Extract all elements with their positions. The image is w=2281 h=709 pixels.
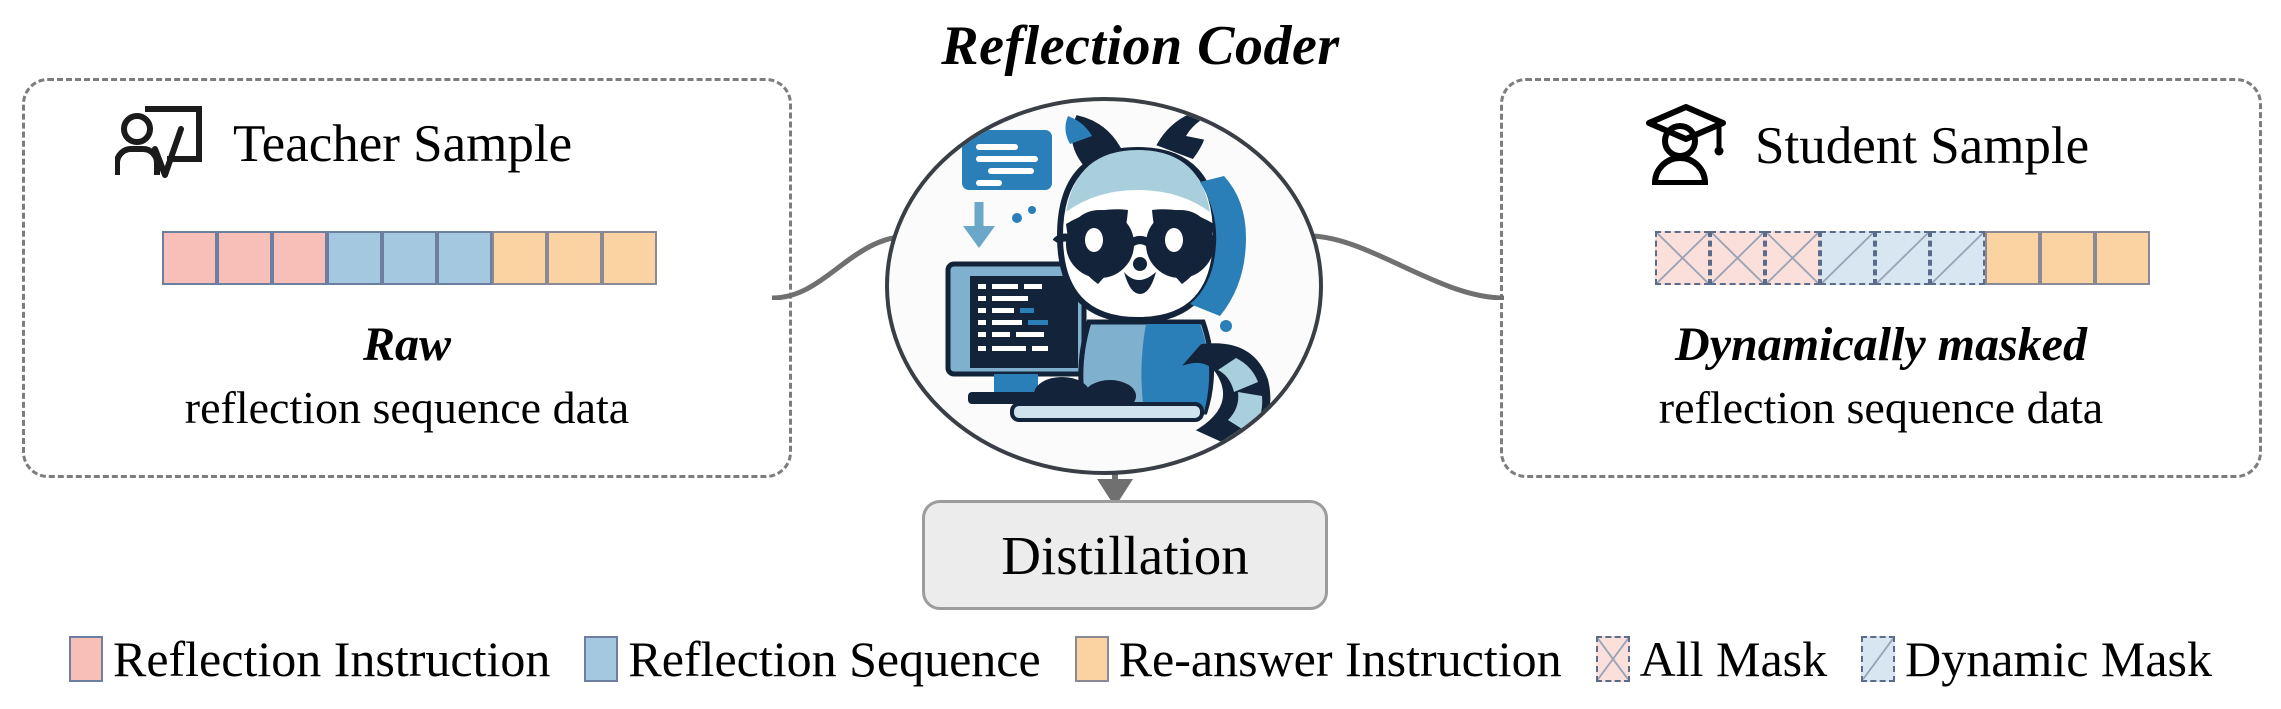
token-cell-reflection-sequence xyxy=(1875,231,1930,285)
token-cell-reflection-instruction xyxy=(1710,231,1765,285)
student-token-sequence xyxy=(1655,231,2150,285)
legend-label: Reflection Sequence xyxy=(628,630,1040,688)
legend-label: Re-answer Instruction xyxy=(1119,630,1562,688)
teacher-sample-panel: Teacher Sample Raw reflection sequence d… xyxy=(22,78,792,478)
token-cell-reflection-instruction xyxy=(217,231,272,285)
legend-label: Dynamic Mask xyxy=(1905,630,2212,688)
token-cell-reflection-sequence xyxy=(437,231,492,285)
token-cell-reflection-instruction xyxy=(272,231,327,285)
teacher-caption-bold: Raw xyxy=(25,317,789,372)
teacher-caption-sub: reflection sequence data xyxy=(25,381,789,434)
connector-right xyxy=(1310,230,1506,300)
legend-item: All Mask xyxy=(1596,630,1828,688)
teacher-presentation-icon xyxy=(115,103,207,186)
token-cell-re-answer-instruction xyxy=(1985,231,2040,285)
student-sample-header: Student Sample xyxy=(1643,103,2089,190)
legend-swatch xyxy=(1075,636,1109,682)
teacher-sample-title: Teacher Sample xyxy=(233,118,572,171)
token-cell-re-answer-instruction xyxy=(2040,231,2095,285)
token-cell-reflection-sequence xyxy=(382,231,437,285)
legend-swatch xyxy=(1596,636,1630,682)
legend-item: Reflection Sequence xyxy=(584,630,1040,688)
token-cell-re-answer-instruction xyxy=(492,231,547,285)
teacher-token-sequence xyxy=(162,231,657,285)
legend-swatch xyxy=(584,636,618,682)
legend-label: Reflection Instruction xyxy=(113,630,550,688)
token-cell-reflection-sequence xyxy=(1930,231,1985,285)
token-cell-re-answer-instruction xyxy=(547,231,602,285)
token-cell-re-answer-instruction xyxy=(602,231,657,285)
student-caption-sub: reflection sequence data xyxy=(1503,381,2259,434)
student-sample-panel: Student Sample Dynamically masked reflec… xyxy=(1500,78,2262,478)
token-cell-reflection-instruction xyxy=(1655,231,1710,285)
graduate-student-icon xyxy=(1643,103,1729,190)
legend-label: All Mask xyxy=(1640,630,1828,688)
legend-swatch xyxy=(1861,636,1895,682)
legend-item: Re-answer Instruction xyxy=(1075,630,1562,688)
teacher-sample-header: Teacher Sample xyxy=(115,103,572,186)
raccoon-coder-mascot xyxy=(884,96,1324,476)
token-cell-reflection-instruction xyxy=(1765,231,1820,285)
token-cell-reflection-sequence xyxy=(1820,231,1875,285)
token-cell-reflection-instruction xyxy=(162,231,217,285)
token-cell-reflection-sequence xyxy=(327,231,382,285)
legend-item: Dynamic Mask xyxy=(1861,630,2212,688)
student-sample-title: Student Sample xyxy=(1755,120,2089,173)
distillation-label: Distillation xyxy=(1001,524,1249,587)
legend-item: Reflection Instruction xyxy=(69,630,550,688)
distillation-box[interactable]: Distillation xyxy=(922,500,1328,610)
legend: Reflection InstructionReflection Sequenc… xyxy=(0,630,2281,688)
legend-swatch xyxy=(69,636,103,682)
token-cell-re-answer-instruction xyxy=(2095,231,2150,285)
student-caption-bold: Dynamically masked xyxy=(1503,317,2259,372)
page-title: Reflection Coder xyxy=(0,14,2281,78)
